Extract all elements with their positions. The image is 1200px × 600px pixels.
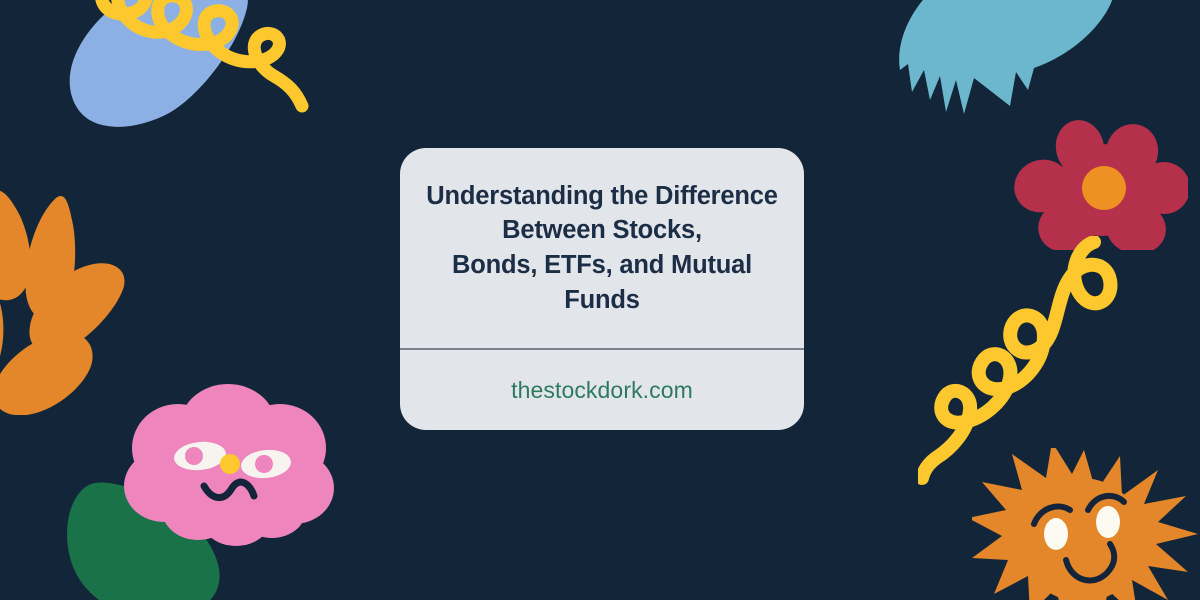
- page-title: Understanding the DifferenceBetween Stoc…: [414, 179, 790, 318]
- orange-sun-face-icon: [972, 448, 1200, 600]
- title-line-3: Bonds, ETFs, and Mutual Funds: [452, 251, 752, 314]
- title-card: Understanding the DifferenceBetween Stoc…: [400, 148, 804, 430]
- teal-blob-icon: [890, 0, 1130, 160]
- orange-face-right-brow: [1088, 496, 1124, 510]
- title-line-1: Understanding the Difference: [426, 182, 777, 210]
- title-area: Understanding the DifferenceBetween Stoc…: [400, 148, 804, 348]
- green-leaf-icon: [58, 478, 258, 600]
- card-footer: thestockdork.com: [400, 350, 804, 430]
- pink-face-left-eye: [173, 439, 228, 472]
- orange-face-right-eye: [1096, 506, 1120, 538]
- orange-frond-icon: [0, 170, 188, 415]
- yellow-spiral-stem-icon: [918, 236, 1138, 486]
- orange-face-left-eye: [1044, 518, 1068, 550]
- site-url[interactable]: thestockdork.com: [511, 377, 693, 404]
- pink-face-mouth: [204, 482, 254, 497]
- title-line-2: Between Stocks,: [502, 216, 702, 244]
- yellow-spiral-top-left-icon: [58, 0, 318, 176]
- social-share-image: Understanding the DifferenceBetween Stoc…: [0, 0, 1200, 600]
- pink-face-right-eye: [240, 447, 293, 480]
- orange-face-mouth: [1066, 544, 1114, 580]
- red-flower-icon: [1008, 120, 1188, 250]
- pink-face-nose: [220, 454, 240, 474]
- pink-cloud-face-icon: [108, 382, 348, 582]
- red-flower-center: [1082, 166, 1126, 210]
- orange-face-left-brow: [1034, 506, 1070, 524]
- blue-blob-icon: [50, 0, 280, 162]
